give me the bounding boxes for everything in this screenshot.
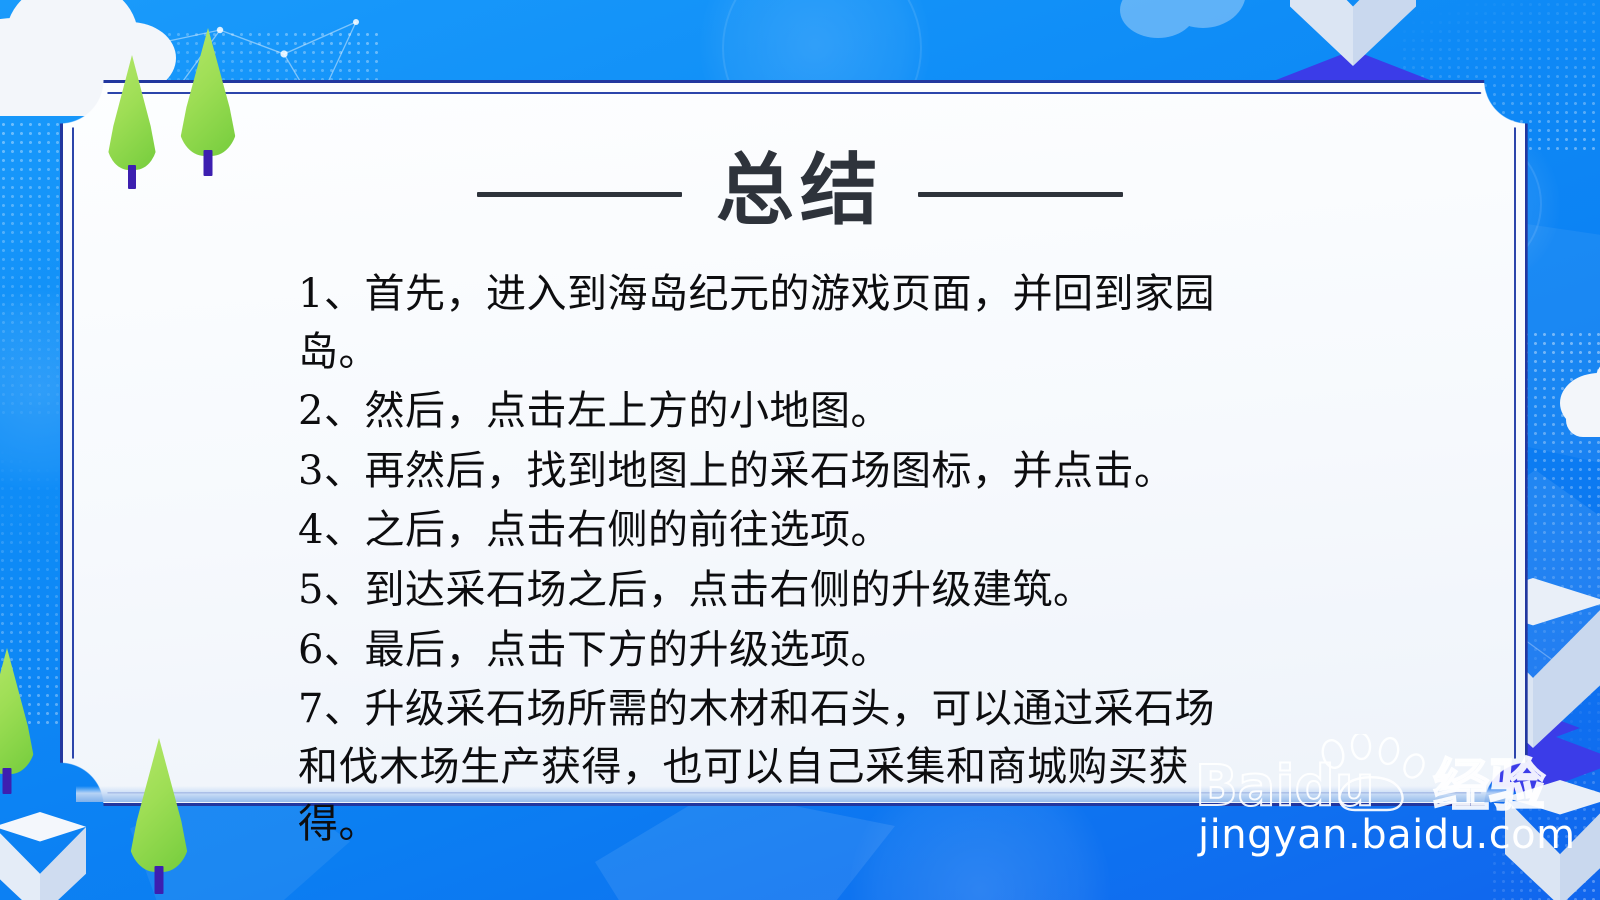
summary-steps-list: 1、首先，进入到海岛纪元的游戏页面，并回到家园岛。 2、然后，点击左上方的小地图…	[298, 266, 1248, 856]
page-title: 总结	[716, 152, 884, 236]
watermark-url: jingyan.baidu.com	[1198, 812, 1576, 858]
page-title-row: 总结	[0, 152, 1600, 236]
list-item: 3、再然后，找到地图上的采石场图标，并点击。	[298, 443, 1248, 501]
list-item: 2、然后，点击左上方的小地图。	[298, 383, 1248, 441]
list-item: 6、最后，点击下方的升级选项。	[298, 622, 1248, 680]
list-item: 7、升级采石场所需的木材和石头，可以通过采石场和伐木场生产获得，也可以自己采集和…	[298, 681, 1248, 854]
cloud-icon	[1560, 345, 1600, 435]
list-item: 5、到达采石场之后，点击右侧的升级建筑。	[298, 562, 1248, 620]
list-item: 1、首先，进入到海岛纪元的游戏页面，并回到家园岛。	[298, 266, 1248, 381]
slide-canvas: 总结 1、首先，进入到海岛纪元的游戏页面，并回到家园岛。 2、然后，点击左上方的…	[0, 0, 1600, 900]
title-rule-right	[918, 192, 1123, 197]
title-rule-left	[477, 192, 682, 197]
cloud-icon	[1120, 0, 1270, 38]
isometric-cube-icon	[0, 812, 86, 900]
isometric-cube-icon	[1290, 0, 1416, 92]
pine-tree-icon	[0, 648, 36, 796]
list-item: 4、之后，点击右侧的前往选项。	[298, 502, 1248, 560]
